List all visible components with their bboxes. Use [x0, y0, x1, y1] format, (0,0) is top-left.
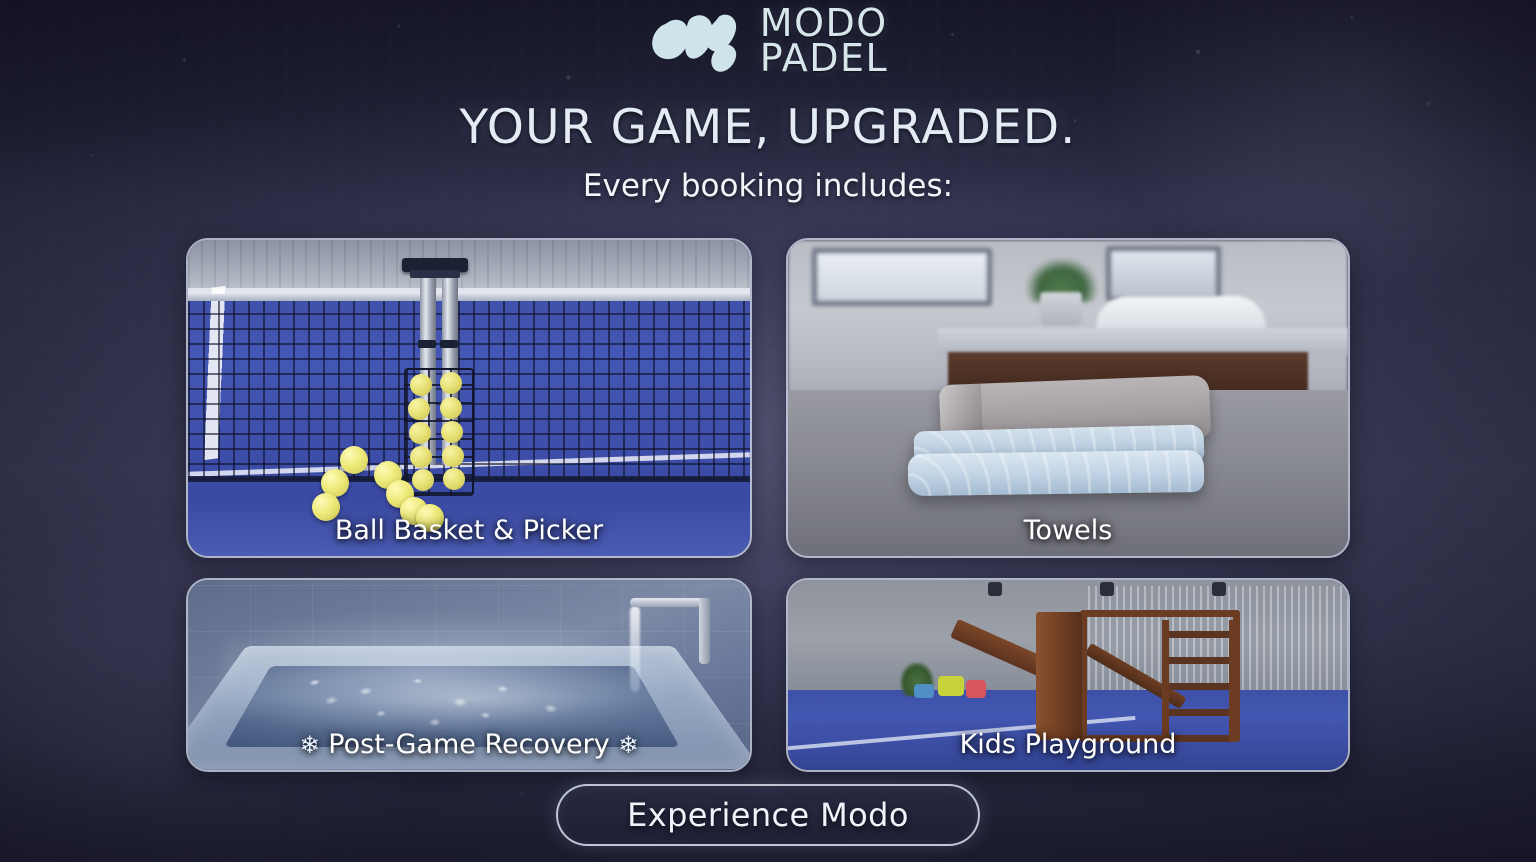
caged-ball: [440, 372, 462, 394]
bathroom-mirror-left: [812, 248, 992, 306]
brand-wordmark: MODO PADEL: [760, 6, 888, 76]
card-caption-text: Towels: [1024, 515, 1113, 546]
caged-ball: [410, 374, 432, 396]
promo-stage: MODO PADEL YOUR GAME, UPGRADED. Every bo…: [0, 0, 1536, 862]
picker-band-left: [418, 340, 436, 348]
water-stream: [630, 606, 640, 692]
padel-net-top-band: [188, 294, 750, 301]
card-ball-basket-picker[interactable]: Ball Basket & Picker: [186, 238, 752, 558]
towel-blue-bottom: [908, 450, 1205, 496]
loose-ball: [340, 446, 368, 474]
potted-plant-pot: [1040, 292, 1082, 326]
card-caption: Towels: [788, 515, 1348, 546]
card-kids-playground[interactable]: Kids Playground: [786, 578, 1350, 772]
card-caption: ❄ Post-Game Recovery ❄: [188, 729, 750, 760]
caged-ball: [409, 422, 431, 444]
caged-ball: [410, 446, 432, 468]
ceiling-light: [1100, 582, 1114, 596]
caged-ball: [440, 397, 462, 419]
page-headline: YOUR GAME, UPGRADED.: [0, 100, 1536, 155]
ball-basket-photo: [188, 240, 750, 556]
brand-name-line2: PADEL: [760, 41, 888, 76]
ceiling-light: [988, 582, 1002, 596]
card-post-game-recovery[interactable]: ❄ Post-Game Recovery ❄: [186, 578, 752, 772]
caged-ball: [441, 421, 463, 443]
card-caption-text: Kids Playground: [960, 729, 1177, 760]
brand-logo-lockup[interactable]: MODO PADEL: [648, 6, 888, 76]
bathroom-mirror-right: [1106, 246, 1221, 302]
ball-picker-handle-grip: [410, 270, 460, 278]
caged-ball: [412, 469, 434, 491]
snowflake-icon-left: ❄: [300, 731, 320, 759]
toy-green: [938, 676, 964, 696]
picker-band-right: [440, 340, 458, 348]
playground-tower: [1036, 612, 1082, 740]
toy-blue: [914, 684, 934, 698]
playground-ladder: [1162, 620, 1236, 742]
card-caption-text: Ball Basket & Picker: [335, 515, 603, 546]
faucet-spout: [630, 598, 704, 607]
toy-red: [966, 680, 986, 698]
caged-ball: [442, 445, 464, 467]
card-caption: Ball Basket & Picker: [188, 515, 750, 546]
modo-wave-mark-icon: [648, 10, 740, 72]
caged-ball: [408, 398, 430, 420]
card-towels[interactable]: Towels: [786, 238, 1350, 558]
card-caption: Kids Playground: [788, 729, 1348, 760]
experience-modo-button-label: Experience Modo: [627, 796, 909, 834]
caged-ball: [443, 468, 465, 490]
snowflake-icon-right: ❄: [618, 731, 638, 759]
ceiling-light: [1212, 582, 1226, 596]
page-subheadline: Every booking includes:: [0, 168, 1536, 204]
faucet-stem: [699, 598, 710, 664]
experience-modo-button[interactable]: Experience Modo: [556, 784, 980, 846]
towels-photo: [788, 240, 1348, 556]
card-caption-text: Post-Game Recovery: [328, 729, 609, 760]
towel-wave-pattern: [908, 450, 1205, 496]
